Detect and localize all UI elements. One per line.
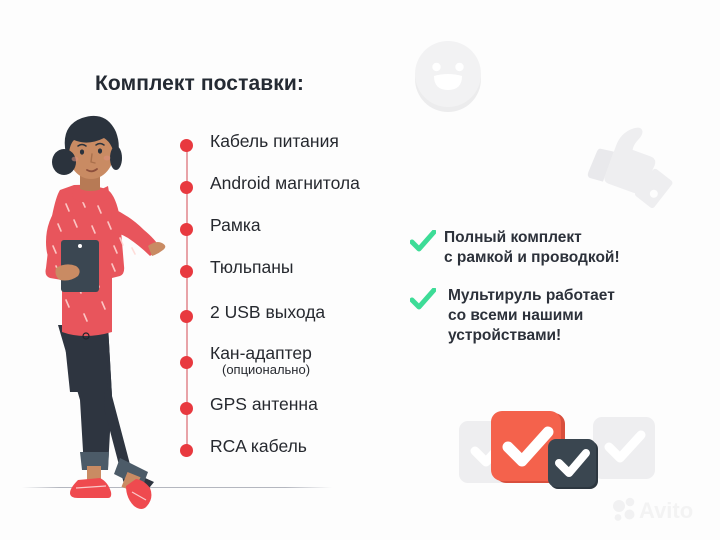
- list-item: Рамка: [176, 214, 426, 244]
- bullet-dot-icon: [180, 356, 193, 369]
- bullet-dot-icon: [180, 444, 193, 457]
- list-item: Тюльпаны: [176, 256, 426, 286]
- list-item-label: RCA кабель: [210, 435, 307, 457]
- list-item-label: Кан-адаптер: [210, 342, 312, 364]
- bullet-dot-icon: [180, 181, 193, 194]
- list-item-label: GPS антенна: [210, 393, 318, 415]
- page-title: Комплект поставки:: [95, 72, 304, 96]
- benefit-item: Мультируль работает со всеми нашими устр…: [410, 286, 700, 346]
- check-icon: [410, 288, 436, 312]
- avito-watermark: Avito: [612, 494, 706, 524]
- bullet-dot-icon: [180, 402, 193, 415]
- bullet-dot-icon: [180, 139, 193, 152]
- benefit-text: Полный комплект с рамкой и проводкой!: [444, 228, 700, 268]
- list-item: Android магнитола: [176, 172, 426, 202]
- list-item-label: Android магнитола: [210, 172, 360, 194]
- svg-text:Avito: Avito: [639, 498, 693, 523]
- list-item-label: Рамка: [210, 214, 261, 236]
- list-item: Кан-адаптер (опционально): [176, 342, 426, 372]
- bullet-dot-icon: [180, 223, 193, 236]
- list-item: RCA кабель: [176, 435, 426, 465]
- person-illustration: [8, 100, 176, 512]
- benefits-list: Полный комплект с рамкой и проводкой! Му…: [410, 228, 700, 360]
- thumbs-up-icon: [573, 110, 677, 214]
- list-item: GPS антенна: [176, 393, 426, 423]
- list-item-label: Тюльпаны: [210, 256, 293, 278]
- list-item-label: Кабель питания: [210, 130, 339, 152]
- checkbox-cluster-icon: [455, 405, 655, 500]
- check-icon: [410, 230, 436, 254]
- benefit-item: Полный комплект с рамкой и проводкой!: [410, 228, 700, 268]
- list-item: 2 USB выхода: [176, 301, 426, 331]
- list-item-sublabel: (опционально): [222, 362, 310, 378]
- promo-image-canvas: Комплект поставки: Кабель питания Androi…: [0, 0, 720, 540]
- list-item-label: 2 USB выхода: [210, 301, 325, 323]
- supply-list: Кабель питания Android магнитола Рамка Т…: [176, 130, 426, 460]
- smiley-face-icon: [408, 36, 488, 116]
- bullet-dot-icon: [180, 310, 193, 323]
- benefit-text: Мультируль работает со всеми нашими устр…: [448, 286, 700, 346]
- list-item: Кабель питания: [176, 130, 426, 160]
- bullet-dot-icon: [180, 265, 193, 278]
